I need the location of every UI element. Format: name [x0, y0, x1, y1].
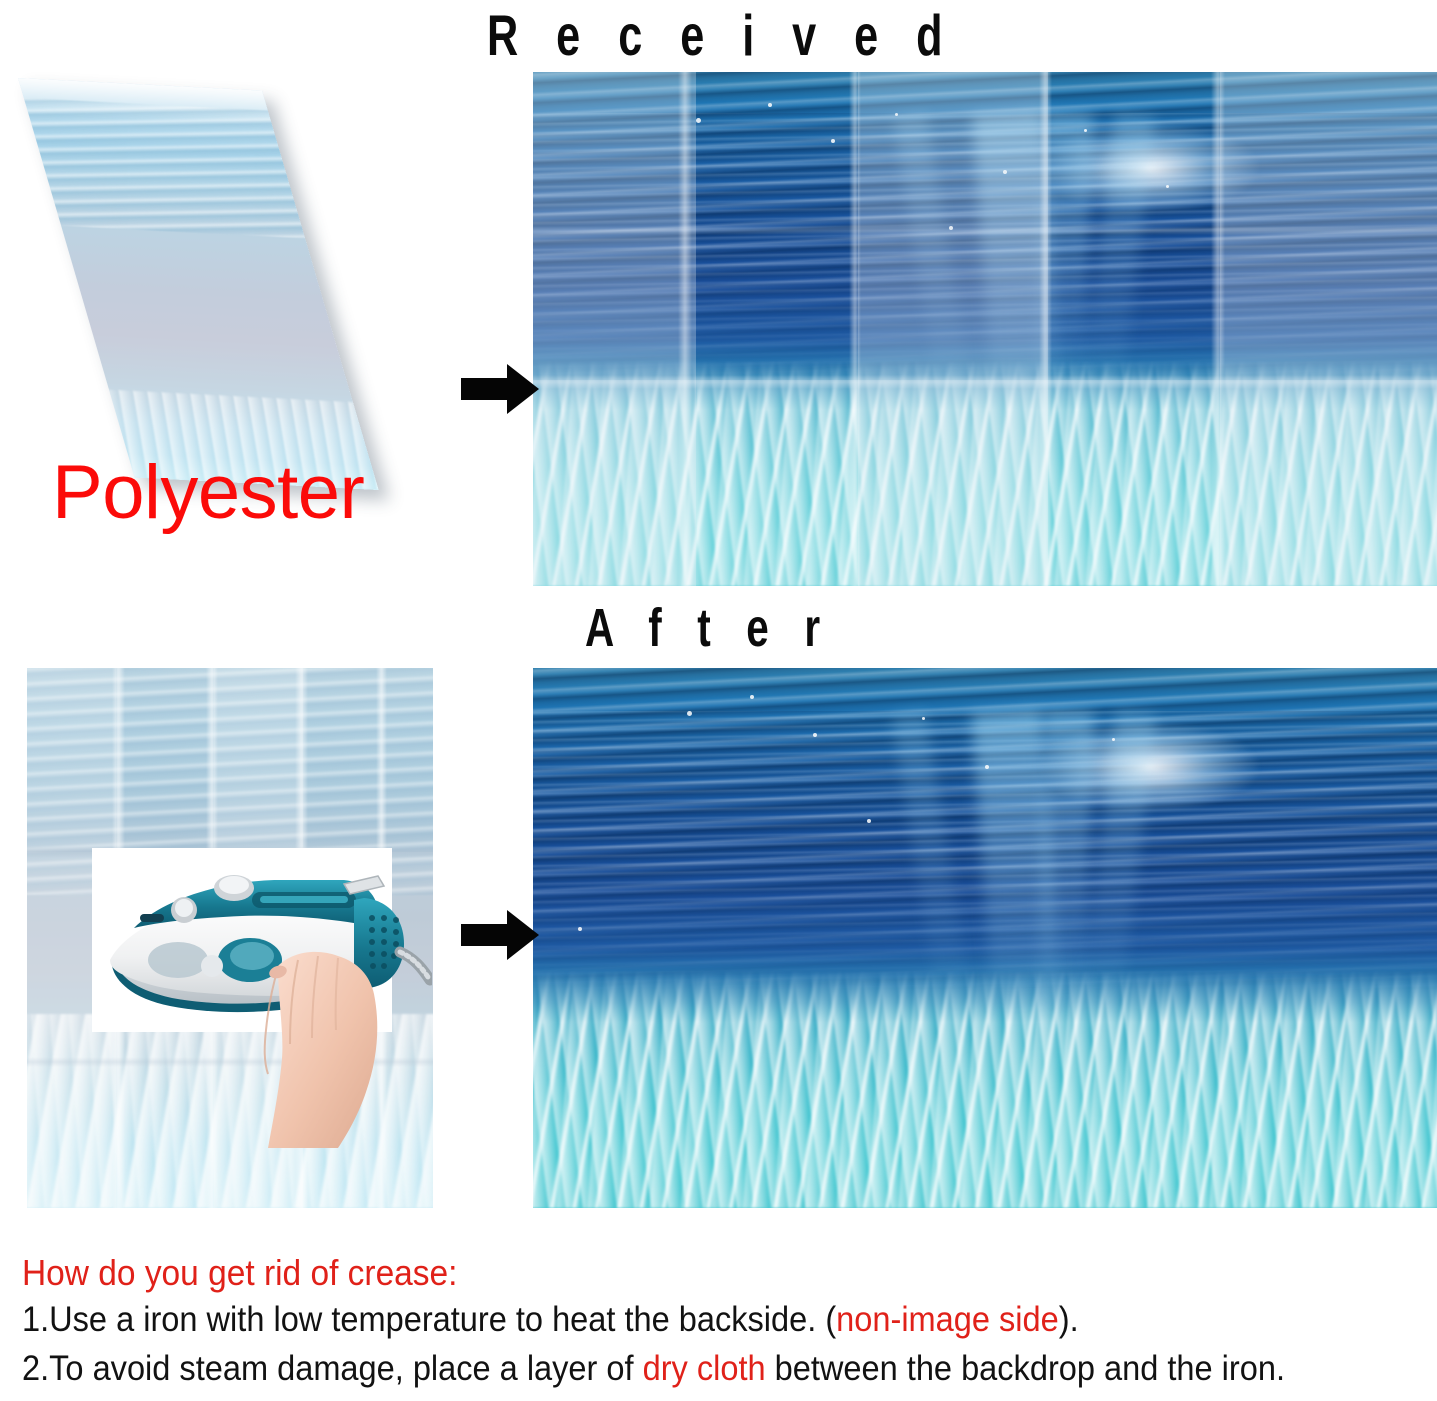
instruction-line-2: 2.To avoid steam damage, place a layer o…: [22, 1347, 1324, 1391]
seabed-caustics: [533, 970, 1437, 1208]
surface-ripples-fine: [533, 711, 1437, 992]
instruction-line-2-highlight: dry cloth: [643, 1349, 766, 1388]
seabed-caustics: [533, 360, 1437, 586]
polyester-fabric-sheet: [18, 78, 379, 490]
instructions-heading: How do you get rid of crease:: [22, 1252, 1324, 1294]
right-arrow-icon: [461, 362, 539, 416]
sun-glint: [1039, 123, 1259, 213]
polyester-label: Polyester: [52, 455, 364, 531]
surface-ripples-fine: [533, 113, 1437, 380]
section-title-after: A f t e r: [585, 602, 832, 656]
instruction-line-1-highlight: non-image side: [836, 1300, 1059, 1339]
instruction-line-1-prefix: 1.Use a iron with low temperature to hea…: [22, 1300, 836, 1339]
after-backdrop-photo: [533, 668, 1437, 1208]
iron-photo: [92, 848, 392, 1032]
right-arrow-icon: [461, 908, 539, 962]
instructions-block: How do you get rid of crease: 1.Use a ir…: [22, 1252, 1422, 1391]
instruction-line-1: 1.Use a iron with low temperature to hea…: [22, 1298, 1324, 1342]
instruction-line-2-suffix: between the backdrop and the iron.: [766, 1349, 1285, 1388]
instruction-line-1-suffix: ).: [1059, 1300, 1079, 1339]
section-title-received: R e c e i v e d: [487, 6, 956, 63]
sun-glint: [1039, 722, 1259, 812]
instruction-line-2-prefix: 2.To avoid steam damage, place a layer o…: [22, 1349, 643, 1388]
fabric-ripple-texture: [18, 95, 354, 240]
received-backdrop-photo: [533, 72, 1437, 586]
product-infographic: R e c e i v e d Polyester: [0, 0, 1437, 1401]
hand: [268, 952, 377, 1148]
